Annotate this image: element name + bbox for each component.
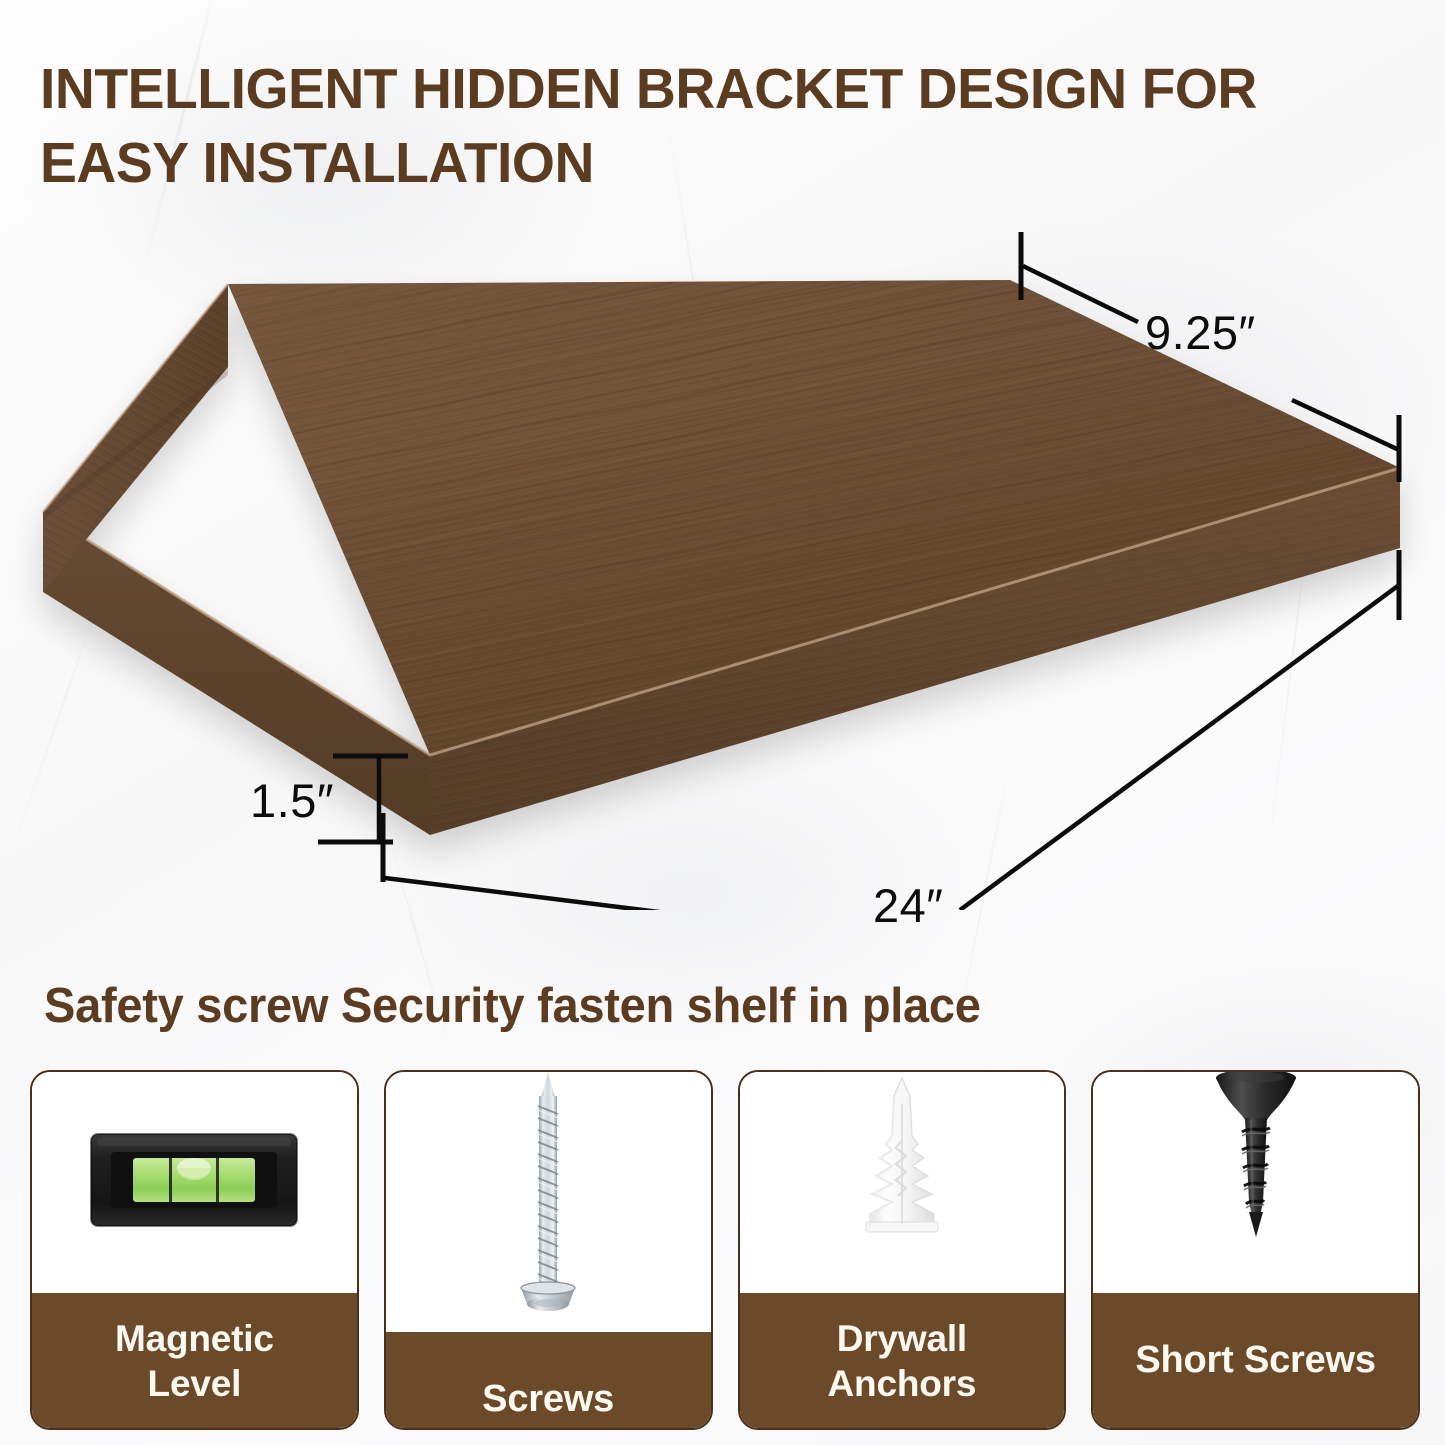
card-image-area (32, 1072, 357, 1293)
product-illustration: 9.25″ 24″ 1.5″ (0, 210, 1445, 910)
accessory-card-magnetic-level[interactable]: Magnetic Level (30, 1070, 359, 1430)
infographic-page: INTELLIGENT HIDDEN BRACKET DESIGN FOR EA… (0, 0, 1445, 1445)
screw-icon (513, 1070, 583, 1330)
card-image-area (386, 1072, 711, 1332)
card-label-line1: Drywall (837, 1318, 967, 1359)
short-screw-icon (1201, 1070, 1311, 1267)
drywall-anchor-icon (854, 1074, 950, 1247)
accessory-card-list: Magnetic Level (30, 1070, 1420, 1430)
dimension-label-depth: 9.25″ (1145, 305, 1256, 360)
accessory-card-drywall-anchors[interactable]: Drywall Anchors (738, 1070, 1067, 1430)
card-image-area (1093, 1072, 1418, 1293)
card-label-line1: Screws (482, 1377, 614, 1422)
card-label-screws: Screws (386, 1332, 711, 1430)
card-label-line2: Anchors (828, 1363, 977, 1404)
page-title: INTELLIGENT HIDDEN BRACKET DESIGN FOR EA… (40, 52, 1379, 200)
card-label-line1: Short Screws (1135, 1338, 1375, 1383)
accessory-card-screws[interactable]: Screws (384, 1070, 713, 1430)
shelf-solid (43, 280, 1400, 835)
card-image-area (740, 1072, 1065, 1293)
card-label-line2: Level (148, 1363, 242, 1404)
card-label-drywall-anchors: Drywall Anchors (740, 1293, 1065, 1428)
card-label-short-screws: Short Screws (1093, 1293, 1418, 1428)
dimension-label-height: 1.5″ (250, 773, 334, 828)
section-title-accessories: Safety screw Security fasten shelf in pl… (44, 977, 1330, 1035)
dimension-label-length: 24″ (873, 878, 943, 933)
magnetic-level-icon (89, 1126, 299, 1239)
card-label-line1: Magnetic (115, 1318, 274, 1359)
card-label-magnetic-level: Magnetic Level (32, 1293, 357, 1428)
accessory-card-short-screws[interactable]: Short Screws (1091, 1070, 1420, 1430)
shelf-left-end-face (43, 284, 228, 592)
